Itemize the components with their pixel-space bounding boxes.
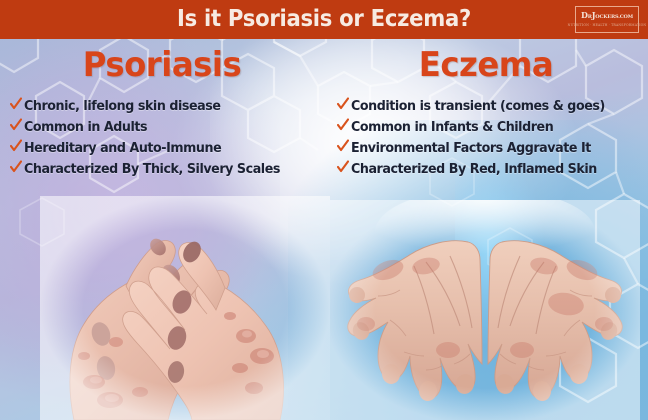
bullet-label: Common in Adults [24,118,147,137]
bullet-list-psoriasis: Chronic, lifelong skin disease Common in… [0,97,324,179]
check-icon [337,97,349,116]
heading-eczema: Eczema [332,44,640,86]
check-icon [337,160,349,179]
list-item: Characterized By Thick, Silvery Scales [10,160,324,179]
logo-wordmark: DRJOCKERS.COM [581,11,633,22]
bullet-label: Characterized By Red, Inflamed Skin [351,160,597,179]
check-icon [10,160,22,179]
header-bar: Is it Psoriasis or Eczema? DRJOCKERS.COM… [0,0,648,39]
bullet-label: Common in Infants & Children [351,118,553,137]
check-icon [10,97,22,116]
bullet-label: Condition is transient (comes & goes) [351,97,605,116]
list-item: Hereditary and Auto-Immune [10,139,324,158]
list-item: Common in Adults [10,118,324,137]
heading-psoriasis: Psoriasis [8,44,316,86]
logo-tagline: NUTRITION · HEALTH · TRANSFORMATION [568,23,647,28]
list-item: Chronic, lifelong skin disease [10,97,324,116]
check-icon [337,118,349,137]
list-item: Characterized By Red, Inflamed Skin [337,160,648,179]
list-item: Common in Infants & Children [337,118,648,137]
check-icon [337,139,349,158]
infographic-canvas: Is it Psoriasis or Eczema? DRJOCKERS.COM… [0,0,648,420]
list-item: Condition is transient (comes & goes) [337,97,648,116]
page-title: Is it Psoriasis or Eczema? [26,0,622,39]
dr-jockers-logo[interactable]: DRJOCKERS.COM NUTRITION · HEALTH · TRANS… [575,6,639,33]
bullet-label: Environmental Factors Aggravate It [351,139,591,158]
check-icon [10,139,22,158]
check-icon [10,118,22,137]
bullet-list-eczema: Condition is transient (comes & goes) Co… [324,97,648,179]
column-psoriasis: Psoriasis Chronic, lifelong skin disease… [0,44,324,195]
bullet-label: Chronic, lifelong skin disease [24,97,221,116]
column-eczema: Eczema Condition is transient (comes & g… [324,44,648,195]
bullet-label: Characterized By Thick, Silvery Scales [24,160,280,179]
bullet-label: Hereditary and Auto-Immune [24,139,221,158]
list-item: Environmental Factors Aggravate It [337,139,648,158]
